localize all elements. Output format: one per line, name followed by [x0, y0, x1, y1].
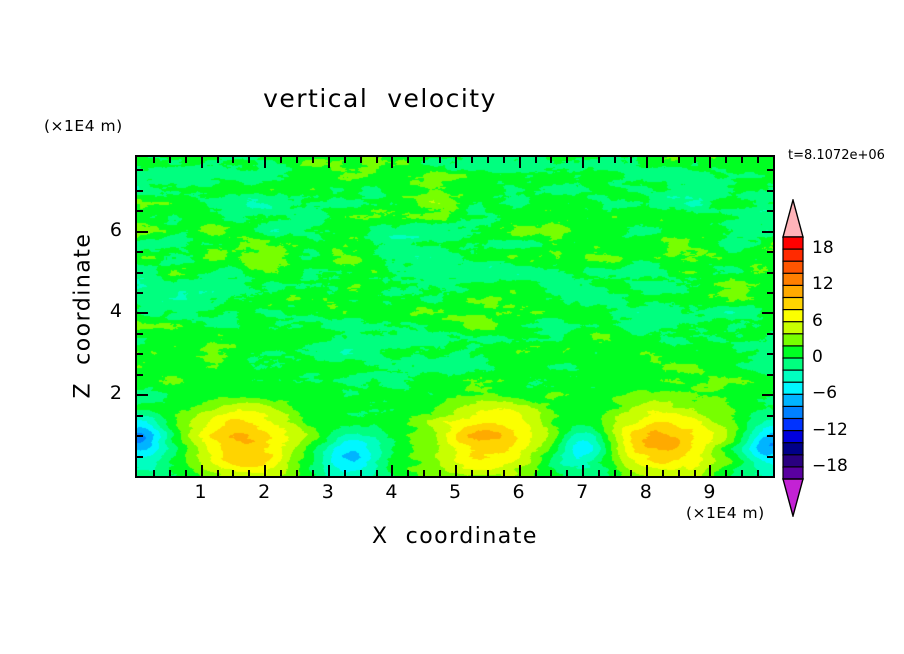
- colorbar-tick-label: −18: [812, 456, 868, 476]
- x-axis-tick: [344, 470, 346, 476]
- x-axis-tick: [725, 157, 727, 163]
- x-axis-tick: [312, 470, 314, 476]
- y-axis-tick: [137, 435, 143, 437]
- colorbar-tick-label: −12: [812, 420, 868, 440]
- x-axis-tick: [280, 157, 282, 163]
- x-axis-tick: [757, 157, 759, 163]
- y-axis-title: Z coordinate: [71, 206, 96, 426]
- y-axis-tick: [137, 415, 143, 417]
- x-axis-tick: [201, 157, 203, 168]
- x-tick-label: 1: [181, 481, 221, 503]
- x-axis-tick: [519, 465, 521, 476]
- x-axis-tick: [217, 470, 219, 476]
- x-axis-tick: [360, 157, 362, 163]
- x-axis-tick: [694, 157, 696, 163]
- x-axis-tick: [201, 465, 203, 476]
- y-axis-tick: [137, 272, 143, 274]
- page-title: vertical velocity: [0, 84, 760, 113]
- x-axis-tick: [614, 470, 616, 476]
- y-axis-tick: [137, 190, 143, 192]
- x-tick-label: 4: [371, 481, 411, 503]
- x-axis-tick: [280, 470, 282, 476]
- x-axis-tick: [471, 470, 473, 476]
- x-axis-tick: [519, 157, 521, 168]
- x-tick-label: 7: [562, 481, 602, 503]
- y-axis-tick: [767, 190, 773, 192]
- y-axis-tick: [767, 272, 773, 274]
- y-axis-tick: [767, 251, 773, 253]
- y-axis-tick: [137, 456, 143, 458]
- y-axis-tick: [137, 333, 143, 335]
- x-axis-tick: [248, 157, 250, 163]
- colorbar-tick-label: −6: [812, 383, 868, 403]
- y-axis-tick: [137, 353, 143, 355]
- x-axis-tick: [391, 465, 393, 476]
- x-axis-tick: [550, 157, 552, 163]
- x-axis-tick: [153, 470, 155, 476]
- colorbar-tick-label: 12: [812, 274, 868, 294]
- x-axis-tick: [391, 157, 393, 168]
- x-axis-tick: [232, 470, 234, 476]
- x-axis-tick: [232, 157, 234, 163]
- x-axis-tick: [725, 470, 727, 476]
- x-axis-tick: [264, 157, 266, 168]
- y-axis-tick: [137, 169, 143, 171]
- x-axis-tick: [439, 157, 441, 163]
- x-axis-title: X coordinate: [135, 524, 775, 549]
- y-axis-tick: [137, 231, 148, 233]
- x-axis-tick: [455, 465, 457, 476]
- x-axis-tick: [741, 157, 743, 163]
- colorbar-tick-label: 0: [812, 347, 868, 367]
- colorbar-tick-label: 6: [812, 311, 868, 331]
- x-axis-tick: [407, 157, 409, 163]
- x-axis-tick: [630, 470, 632, 476]
- x-axis-tick: [185, 157, 187, 163]
- y-axis-tick: [137, 292, 143, 294]
- contour-plot-frame: [135, 155, 775, 478]
- x-axis-tick: [328, 157, 330, 168]
- x-axis-tick: [423, 157, 425, 163]
- y-axis-tick: [762, 312, 773, 314]
- y-axis-tick: [137, 312, 148, 314]
- x-axis-tick: [582, 465, 584, 476]
- y-axis-tick: [767, 353, 773, 355]
- x-axis-tick: [328, 465, 330, 476]
- x-axis-tick: [503, 470, 505, 476]
- x-axis-tick: [709, 465, 711, 476]
- y-axis-tick: [762, 231, 773, 233]
- x-axis-tick: [614, 157, 616, 163]
- x-axis-tick: [360, 470, 362, 476]
- x-axis-tick: [630, 157, 632, 163]
- x-axis-tick: [153, 157, 155, 163]
- y-axis-tick: [767, 415, 773, 417]
- y-axis-tick: [137, 374, 143, 376]
- x-tick-label: 3: [308, 481, 348, 503]
- x-axis-tick: [471, 157, 473, 163]
- x-axis-tick: [439, 470, 441, 476]
- x-axis-tick: [185, 470, 187, 476]
- x-axis-tick: [741, 470, 743, 476]
- x-axis-tick: [423, 470, 425, 476]
- x-axis-tick: [535, 157, 537, 163]
- contour-field: [137, 157, 773, 476]
- y-axis-tick: [767, 169, 773, 171]
- x-tick-label: 6: [499, 481, 539, 503]
- x-axis-unit-label: (×1E4 m): [686, 504, 765, 522]
- x-axis-tick: [455, 157, 457, 168]
- x-axis-tick: [376, 157, 378, 163]
- y-axis-tick: [767, 456, 773, 458]
- colorbar-swatches: [782, 199, 804, 517]
- x-axis-tick: [169, 157, 171, 163]
- y-axis-tick: [762, 394, 773, 396]
- x-tick-label: 2: [244, 481, 284, 503]
- x-axis-tick: [376, 470, 378, 476]
- x-axis-tick: [662, 470, 664, 476]
- x-axis-tick: [694, 470, 696, 476]
- x-axis-tick: [312, 157, 314, 163]
- x-axis-tick: [217, 157, 219, 163]
- colorbar: [782, 199, 804, 517]
- x-axis-tick: [248, 470, 250, 476]
- y-axis-tick: [767, 210, 773, 212]
- x-axis-tick: [678, 157, 680, 163]
- x-axis-tick: [296, 470, 298, 476]
- x-axis-tick: [566, 470, 568, 476]
- x-tick-label: 8: [626, 481, 666, 503]
- x-axis-tick: [487, 157, 489, 163]
- y-axis-tick: [137, 251, 143, 253]
- x-tick-label: 5: [435, 481, 475, 503]
- y-axis-tick: [767, 374, 773, 376]
- time-stamp-label: t=8.1072e+06: [788, 148, 885, 163]
- x-axis-tick: [264, 465, 266, 476]
- x-axis-tick: [407, 470, 409, 476]
- x-axis-tick: [662, 157, 664, 163]
- x-axis-tick: [582, 157, 584, 168]
- x-tick-label: 9: [689, 481, 729, 503]
- y-axis-tick: [767, 333, 773, 335]
- x-axis-tick: [503, 157, 505, 163]
- y-axis-tick: [767, 435, 773, 437]
- x-axis-tick: [598, 157, 600, 163]
- x-axis-tick: [296, 157, 298, 163]
- x-axis-tick: [487, 470, 489, 476]
- x-axis-tick: [598, 470, 600, 476]
- x-axis-tick: [169, 470, 171, 476]
- x-axis-tick: [566, 157, 568, 163]
- figure-canvas: vertical velocity (×1E4 m) t=8.1072e+06 …: [0, 0, 904, 654]
- x-axis-tick: [550, 470, 552, 476]
- x-axis-tick: [709, 157, 711, 168]
- x-axis-tick: [678, 470, 680, 476]
- colorbar-tick-label: 18: [812, 238, 868, 258]
- y-axis-unit-label: (×1E4 m): [44, 117, 123, 135]
- y-axis-tick: [767, 292, 773, 294]
- x-axis-tick: [646, 465, 648, 476]
- x-axis-tick: [757, 470, 759, 476]
- x-axis-tick: [646, 157, 648, 168]
- y-axis-tick: [137, 210, 143, 212]
- y-axis-tick: [137, 394, 148, 396]
- x-axis-tick: [535, 470, 537, 476]
- x-axis-tick: [344, 157, 346, 163]
